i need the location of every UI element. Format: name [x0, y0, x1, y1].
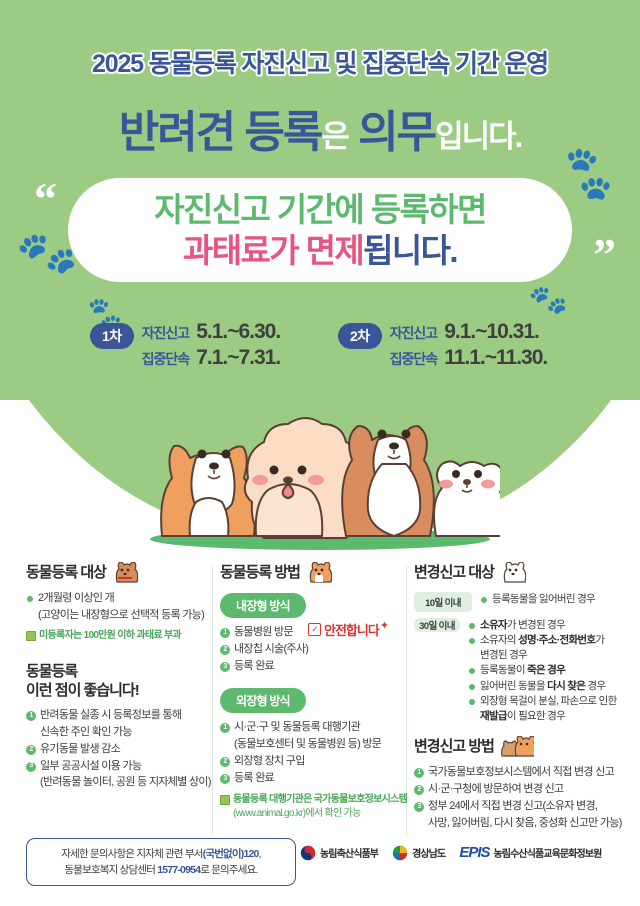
- section-heading-change-target: 변경신고 대상: [414, 562, 626, 584]
- poster-eyebrow-title: 2025 동물등록 자진신고 및 집중단속 기간 운영: [0, 44, 640, 80]
- list-item: 일부 공공시설 이용 가능: [26, 759, 216, 775]
- schedule-row: 집중단속 11.1.~11.30.: [390, 346, 548, 370]
- poster-footer: 자세한 문의사항은 지자체 관련 부서(국번없이)120, 동물보호복지 상담센…: [0, 836, 640, 898]
- change-items-30-days: 소유자가 변경된 경우 소유자의 성명·주소·전화번호가변경된 경우 등록동물이…: [468, 618, 617, 724]
- pill-external-method: 외장형 방식: [220, 688, 306, 713]
- deadline-tag-30-days: 30일 이내: [414, 618, 460, 632]
- list-item: 외장형 목걸이 분실, 파손으로 인한재발급이 필요한 경우: [468, 694, 617, 723]
- list-item: 반려동물 실종 시 등록정보를 통해: [26, 708, 216, 724]
- quote-close-mark: ”: [593, 232, 616, 278]
- list-item: 유기동물 발생 감소: [26, 742, 216, 758]
- list-item: 등록동물을 잃어버린 경우: [480, 592, 595, 606]
- section-title-line-1: 동물등록: [26, 663, 216, 682]
- small-dog-icon: [112, 562, 138, 584]
- contact-line-1: 자세한 문의사항은 지자체 관련 부서(국번없이)120,: [61, 846, 260, 862]
- section-title-text: 변경신고 대상: [414, 564, 494, 583]
- section-title-text: 동물등록 방법: [220, 564, 300, 583]
- change-target-table: 10일 이내 등록동물을 잃어버린 경우 30일 이내 소유자가 변경된 경우 …: [414, 592, 626, 724]
- section-heading-registration-method: 동물등록 방법: [220, 562, 410, 584]
- schedule-badge-1: 1차: [90, 323, 134, 349]
- list-item-continuation: 신속한 주인 확인 가능: [26, 725, 216, 741]
- schedule-strip: 1차 자진신고 5.1.~6.30. 집중단속 7.1.~7.31. 2차 자진…: [0, 320, 640, 380]
- contact-box: 자세한 문의사항은 지자체 관련 부서(국번없이)120, 동물보호복지 상담센…: [26, 838, 296, 886]
- external-method-list: 시·군·구 및 동물등록 대행기관 (동물보호센터 및 동물병원 등) 방문 외…: [220, 720, 410, 787]
- logo-label: 경상남도: [412, 845, 445, 860]
- logo-gyeongnam: 경상남도: [392, 845, 445, 861]
- agency-note: 동물등록 대행기관은 국가동물보호정보시스템 (www.animal.go.kr…: [220, 793, 410, 821]
- column-registration-method: 동물등록 방법 내장형 방식 ✓ 안전합니다 ✦ 동물병원 방문 내장: [220, 562, 410, 821]
- list-item: 등록동물이 죽은 경우: [468, 663, 617, 677]
- headline-part-a: 반려견 등록: [119, 108, 322, 157]
- list-item: 시·군·구 및 동물등록 대행기관: [220, 720, 410, 736]
- callout-quote-wrapper: “ ” 자진신고 기간에 등록하면 과태료가 면제됩니다.: [0, 170, 640, 290]
- logo-label: 농림축산식품부: [320, 845, 378, 860]
- callout-line-2-highlight: 과태료가 면제: [183, 232, 363, 269]
- section-title-line-2: 이런 점이 좋습니다!: [26, 682, 216, 701]
- list-item: 정부 24에서 직접 변경 신고(소유자 변경,: [414, 799, 626, 815]
- headline-part-d: 입니다.: [435, 119, 521, 154]
- logo-label: 농림수산식품교육문화정보원: [494, 845, 602, 860]
- list-item-continuation: (반려동물 놀이터, 공원 등 지자체별 상이): [26, 775, 216, 791]
- callout-line-1: 자진신고 기간에 등록하면: [154, 189, 486, 230]
- benefits-list: 반려동물 실종 시 등록정보를 통해 신속한 주인 확인 가능 유기동물 발생 …: [26, 708, 216, 792]
- callout-pill: 자진신고 기간에 등록하면 과태료가 면제됩니다.: [68, 178, 572, 282]
- quote-open-mark: “: [34, 176, 57, 222]
- list-item: 잃어버린 동물을 다시 찾은 경우: [468, 679, 617, 693]
- schedule-value: 11.1.~11.30.: [444, 346, 547, 370]
- column-registration-target: 동물등록 대상 2개월령 이상인 개 (고양이는 내장형으로 선택적 등록 가능…: [26, 562, 216, 792]
- list-item: 2개월령 이상인 개: [26, 591, 216, 607]
- section-title-text: 변경신고 방법: [414, 738, 494, 757]
- callout-line-2-tail: 됩니다.: [363, 232, 457, 269]
- list-item: 소유자의 성명·주소·전화번호가변경된 경우: [468, 633, 617, 662]
- poster-headline: 반려견 등록은 의무입니다.: [0, 96, 640, 160]
- small-corgi-icon: [306, 562, 332, 584]
- gyeongnam-icon: [392, 845, 408, 861]
- list-item: 등록 완료: [220, 659, 410, 675]
- agency-note-url: (www.animal.go.kr)에서 확인 가능: [233, 808, 361, 819]
- four-dogs-illustration: [150, 388, 500, 543]
- change-items-10-days: 등록동물을 잃어버린 경우: [480, 592, 595, 607]
- penalty-note: 미등록자는 100만원 이하 과태료 부과: [26, 629, 216, 643]
- hero-banner: 🐾 🐾 🐾 🐾 2025 동물등록 자진신고 및 집중단속 기간 운영 반려견 …: [0, 0, 640, 560]
- list-item-continuation: (동물보호센터 및 동물병원 등) 방문: [220, 737, 410, 753]
- epis-wordmark: EPIS: [459, 844, 489, 861]
- schedule-value: 5.1.~6.30.: [196, 320, 280, 344]
- corgi-dog-icon: [161, 446, 255, 536]
- schedule-badge-2: 2차: [338, 323, 382, 349]
- schedule-label: 자진신고: [390, 323, 438, 343]
- section-title-text: 동물등록 대상: [26, 564, 106, 583]
- schedule-row: 집중단속 7.1.~7.31.: [142, 346, 281, 370]
- headline-part-b: 은: [321, 119, 348, 154]
- bichon-dog-icon: [434, 461, 500, 536]
- list-item: 소유자가 변경된 경우: [468, 618, 617, 632]
- taegeuk-icon: [300, 845, 316, 861]
- registration-target-list: 2개월령 이상인 개 (고양이는 내장형으로 선택적 등록 가능): [26, 591, 216, 623]
- schedule-label: 집중단속: [142, 349, 190, 369]
- contact-line-2: 동물보호복지 상담센터 1577-0954로 문의주세요.: [64, 862, 257, 878]
- two-dogs-icon: [500, 736, 534, 758]
- list-item-continuation: 사망, 잃어버림, 다시 찾음, 중성화 신고만 가능): [414, 816, 626, 832]
- column-change-report: 변경신고 대상 10일 이내 등록동물을 잃어버린 경우 30일 이내: [414, 562, 626, 833]
- agency-note-bold: 동물등록 대행기관은 국가동물보호정보시스템: [233, 794, 407, 805]
- list-item: 국가동물보호정보시스템에서 직접 변경 신고: [414, 765, 626, 781]
- schedule-value: 9.1.~10.31.: [444, 320, 539, 344]
- schedule-row: 자진신고 9.1.~10.31.: [390, 320, 548, 344]
- internal-method-list: 동물병원 방문 내장칩 시술(주사) 등록 완료: [220, 625, 410, 675]
- list-item: 외장형 장치 구입: [220, 754, 410, 770]
- content-columns: 동물등록 대상 2개월령 이상인 개 (고양이는 내장형으로 선택적 등록 가능…: [0, 562, 640, 832]
- list-item: (고양이는 내장형으로 선택적 등록 가능): [26, 608, 216, 624]
- logo-mafra: 농림축산식품부: [300, 845, 378, 861]
- deadline-tag-10-days: 10일 이내: [414, 592, 472, 612]
- section-heading-benefits: 동물등록 이런 점이 좋습니다!: [26, 663, 216, 701]
- section-heading-registration-target: 동물등록 대상: [26, 562, 216, 584]
- callout-line-2: 과태료가 면제됩니다.: [183, 230, 457, 271]
- list-item: 등록 완료: [220, 771, 410, 787]
- logo-epis: EPIS 농림수산식품교육문화정보원: [459, 844, 601, 861]
- change-row-10days: 10일 이내 등록동물을 잃어버린 경우: [414, 592, 626, 612]
- small-bichon-icon: [500, 562, 526, 584]
- list-item: 동물병원 방문: [220, 625, 410, 641]
- beagle-dog-icon: [342, 426, 434, 536]
- change-row-30days: 30일 이내 소유자가 변경된 경우 소유자의 성명·주소·전화번호가변경된 경…: [414, 618, 626, 724]
- schedule-label: 집중단속: [390, 349, 438, 369]
- list-item: 시·군·구청에 방문하여 변경 신고: [414, 782, 626, 798]
- partner-logos: 농림축산식품부 경상남도 EPIS 농림수산식품교육문화정보원: [300, 844, 601, 861]
- change-method-list: 국가동물보호정보시스템에서 직접 변경 신고 시·군·구청에 방문하여 변경 신…: [414, 765, 626, 832]
- pill-internal-method: 내장형 방식: [220, 593, 306, 618]
- list-item: 내장칩 시술(주사): [220, 642, 410, 658]
- section-heading-change-method: 변경신고 방법: [414, 736, 626, 758]
- headline-part-c: 의무: [358, 108, 435, 157]
- schedule-label: 자진신고: [142, 323, 190, 343]
- schedule-row: 자진신고 5.1.~6.30.: [142, 320, 281, 344]
- schedule-group-1: 1차 자진신고 5.1.~6.30. 집중단속 7.1.~7.31.: [90, 320, 280, 370]
- schedule-value: 7.1.~7.31.: [196, 346, 280, 370]
- schedule-group-2: 2차 자진신고 9.1.~10.31. 집중단속 11.1.~11.30.: [338, 320, 547, 370]
